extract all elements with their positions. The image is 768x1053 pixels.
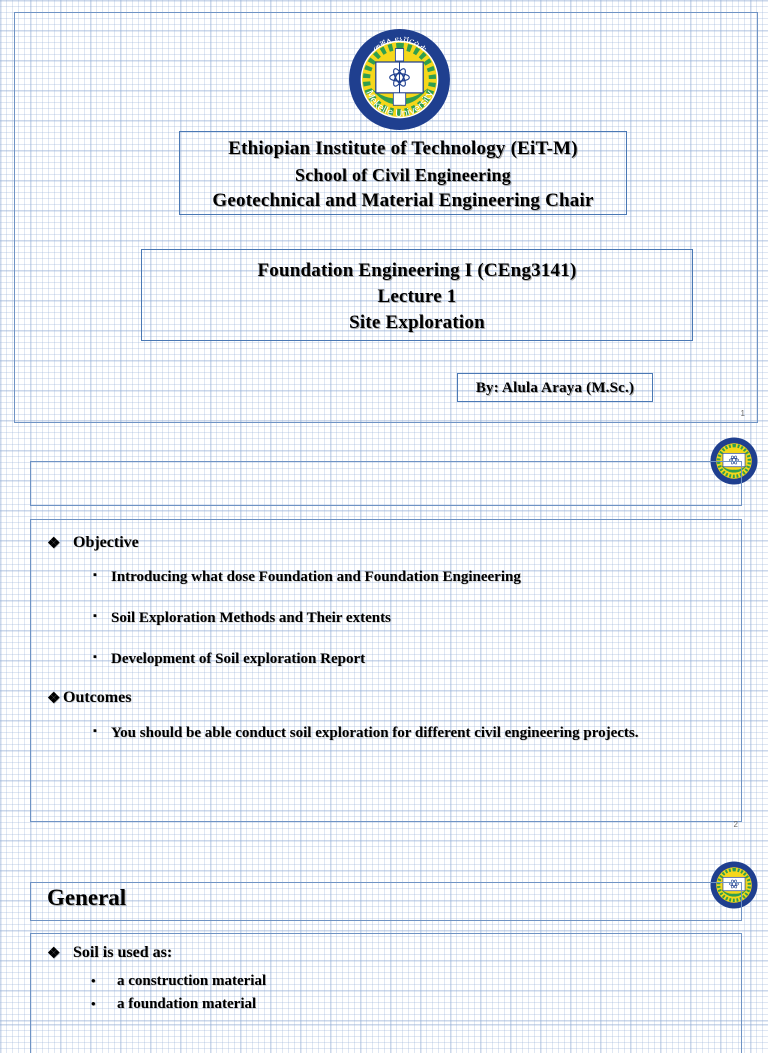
diamond-bullet-icon: ❖ [47,689,63,708]
slide-2-title-box [30,461,742,506]
bullet-objective: ❖ Objective [47,534,725,553]
course-line-2: Lecture 1 [142,284,692,310]
bullet-text: Soil is used as: [73,944,172,962]
bullet-outcomes: ❖ Outcomes [47,689,725,708]
slide-3-title: General [47,885,126,910]
slide-1-page-number: 1 [741,409,745,418]
diamond-bullet-icon: ❖ [47,944,73,963]
list-item: • a construction material [91,973,725,990]
bullet-text: You should be able conduct soil explorat… [111,722,725,745]
bullet-text: Outcomes [63,689,131,707]
author-box: By: Alula Araya (M.Sc.) [457,373,653,402]
course-line-1: Foundation Engineering I (CEng3141) [142,258,692,284]
list-item: ▪ Soil Exploration Methods and Their ext… [93,607,725,630]
list-item: ▪ You should be able conduct soil explor… [93,722,725,745]
slide-2: ❖ Objective ▪ Introducing what dose Foun… [14,437,758,847]
bullet-soil-used-as: ❖ Soil is used as: [47,944,725,963]
mekelle-university-logo: መቐለ ዩኒቨርሲቲ Mekelle University [348,28,451,131]
slide-1: መቐለ ዩኒቨርሲቲ Mekelle University Ethiopian … [14,12,758,423]
list-item: • a foundation material [91,996,725,1013]
round-bullet-icon: • [91,973,117,989]
square-bullet-icon: ▪ [93,607,111,626]
bullet-text: Development of Soil exploration Report [111,648,725,671]
square-bullet-icon: ▪ [93,566,111,585]
slide-3: General ❖ Soil is used as: • a construct… [14,861,758,1024]
diamond-bullet-icon: ❖ [47,534,73,553]
square-bullet-icon: ▪ [93,648,111,667]
bullet-text: a foundation material [117,996,256,1013]
bullet-text: a construction material [117,973,266,990]
institute-line-1: Ethiopian Institute of Technology (EiT-M… [180,136,626,162]
slide-3-title-box: General [30,882,742,921]
institute-title-box: Ethiopian Institute of Technology (EiT-M… [179,131,627,215]
bullet-text: Soil Exploration Methods and Their exten… [111,607,725,630]
author-text: By: Alula Araya (M.Sc.) [458,377,652,399]
course-title-box: Foundation Engineering I (CEng3141) Lect… [141,249,693,341]
list-item: ▪ Introducing what dose Foundation and F… [93,566,725,589]
bullet-text: Introducing what dose Foundation and Fou… [111,566,725,589]
list-item: ▪ Development of Soil exploration Report [93,648,725,671]
slide-2-content-box: ❖ Objective ▪ Introducing what dose Foun… [30,519,742,822]
bullet-text: Objective [73,534,139,552]
round-bullet-icon: • [91,996,117,1012]
institute-line-2: School of Civil Engineering [180,162,626,188]
slide-3-content-box: ❖ Soil is used as: • a construction mate… [30,933,742,1053]
square-bullet-icon: ▪ [93,722,111,741]
slide-2-page-number: 2 [734,820,738,829]
institute-line-3: Geotechnical and Material Engineering Ch… [180,188,626,214]
course-line-3: Site Exploration [142,310,692,336]
